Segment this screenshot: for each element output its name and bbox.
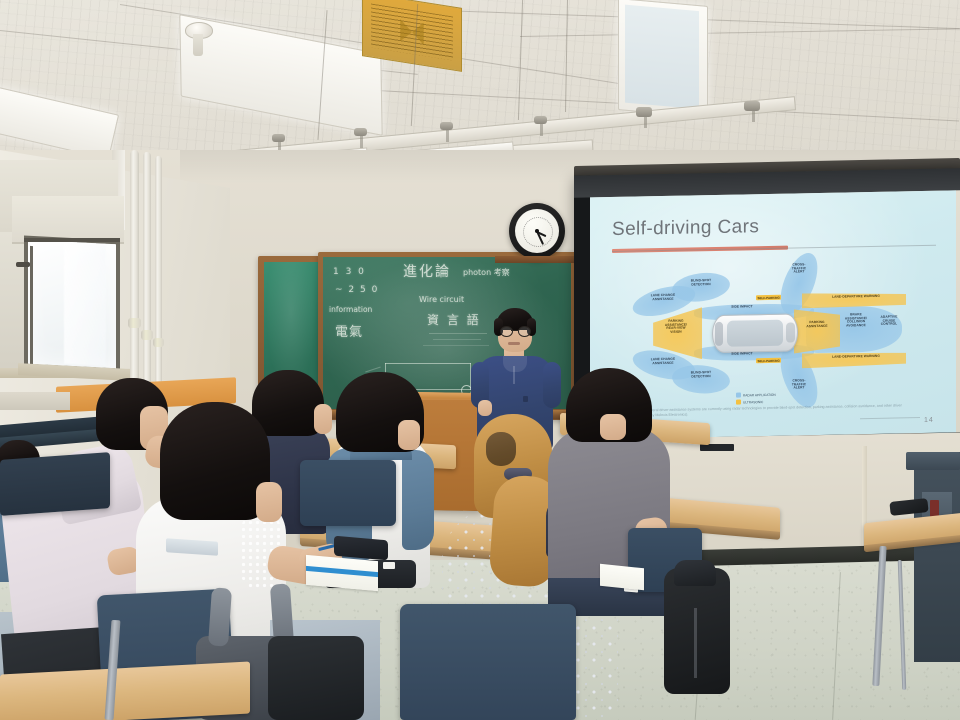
pipe-joint (141, 330, 153, 340)
student-white-neck (256, 482, 282, 522)
presenter-arm-right (543, 362, 561, 408)
legend-label-ultrasonic: ULTRASONIC (743, 400, 763, 404)
chalk-note-3: information (329, 305, 372, 314)
student-dark-top-neck (314, 404, 332, 434)
chair-center (400, 604, 576, 720)
ledge-wall (0, 392, 70, 410)
rail-hanger-head (636, 107, 652, 117)
chalk-note-8: 資 言 語 (427, 311, 481, 328)
car-hood (786, 322, 795, 342)
backpack-zipper (694, 608, 697, 678)
legend-label-radar: RADAR APPLICATION (743, 392, 776, 397)
chalk-note-2: ~ 2 5 0 (335, 285, 379, 295)
pipe-joint (153, 338, 164, 347)
clock-numerals (523, 217, 553, 247)
chair-farleft (0, 452, 110, 516)
presenter-glasses-left-lens (500, 326, 513, 337)
backpack-floor (664, 568, 730, 694)
sensor-coverage-diagram: LANE CHANGE ASSISTANCE BLIND-SPOT DETECT… (634, 257, 912, 402)
polo-pocket (523, 396, 528, 402)
label-lane-change-assistance-rear-left: LANE CHANGE ASSISTANCE (634, 357, 692, 365)
classroom-photo: 1 3 0 ~ 2 5 0 information 電氣 進化論 photon … (0, 0, 960, 720)
window-blind-left (0, 232, 26, 376)
wall-pipe (155, 156, 162, 402)
lobe-blind-spot-rear (671, 363, 732, 396)
clock-face (515, 209, 559, 253)
bag-under-desk (268, 636, 364, 720)
rail-hanger-head (354, 128, 367, 136)
car-top-view (712, 313, 798, 353)
legend-item-ultrasonic: ULTRASONIC (736, 399, 763, 405)
slide-page-number: 14 (924, 417, 934, 424)
av-cabinet (914, 452, 960, 662)
window-mullion (30, 246, 33, 366)
chalk-scribble (433, 339, 481, 340)
window-frame-2 (24, 235, 120, 372)
label-parking-assistance-rear-view: PARKING ASSISTANCE/ REAR-VIEW VISION (654, 319, 698, 335)
wall-pipe (143, 152, 151, 402)
paper-sheet (600, 564, 644, 591)
label-blind-spot-detection-front: BLIND-SPOT DETECTION (674, 279, 728, 287)
student-gray-neck (600, 414, 626, 440)
label-cross-traffic-alert-rear-right: CROSS- TRAFFIC ALERT (782, 379, 816, 391)
chalk-note-4: 電氣 (335, 321, 363, 340)
label-self-parking-top: SELF-PARKING (756, 295, 781, 300)
wall-clock (509, 203, 565, 259)
panel-diffuser (625, 5, 699, 109)
window-curtain (64, 244, 106, 366)
chair-midleft (300, 460, 396, 526)
chalk-note-5: 進化論 (403, 261, 451, 281)
rail-hanger-head (534, 116, 547, 124)
raglan-sleeve-right (402, 450, 434, 550)
presenter-hand-left (478, 400, 492, 416)
cone-parking-assistance-right (794, 309, 840, 354)
student-white-hair (160, 402, 270, 520)
legend-swatch-radar (736, 392, 741, 397)
chalk-note-7: Wire circuit (419, 295, 464, 304)
label-brake-assistance-collision-avoidance: BRAKE ASSISTANCE/ COLLISION AVOIDANCE (836, 313, 876, 328)
car-windshield (727, 320, 783, 347)
notebook-stripe (306, 566, 378, 577)
polo-placket (513, 366, 515, 384)
car-rear (715, 322, 723, 346)
av-cabinet-top (906, 452, 960, 470)
legend-swatch-ultrasonic (736, 399, 741, 404)
eraser (383, 562, 395, 569)
rail-hanger-head (440, 122, 453, 130)
presenter-glasses-bridge (511, 330, 518, 331)
label-lane-change-assistance-front-left: LANE CHANGE ASSISTANCE (634, 293, 692, 301)
polo-collar (503, 356, 527, 372)
rail-hanger-head (744, 101, 760, 111)
smoke-detector-stem (193, 34, 203, 56)
notebook (306, 555, 378, 591)
student-blue-raglan-neck (398, 420, 420, 450)
chalk-note-1: 1 3 0 (333, 267, 366, 277)
ceiling-panel-right (618, 0, 708, 118)
slide-title: Self-driving Cars (612, 216, 759, 241)
chalk-note-6: photon 考察 (463, 267, 510, 278)
chalk-scribble (423, 345, 489, 346)
label-self-parking-bottom: SELF-PARKING (756, 358, 781, 363)
legend-item-radar: RADAR APPLICATION (736, 392, 776, 398)
window-mullion-top (24, 238, 120, 242)
wall-pipe (130, 150, 139, 400)
backpack-strap-left (208, 587, 232, 646)
label-parking-assistance-right: PARKING ASSISTANCE (796, 321, 838, 329)
car-sketch-top (385, 363, 471, 364)
label-cross-traffic-alert-front-right: CROSS- TRAFFIC ALERT (782, 263, 816, 275)
window-latch (16, 262, 30, 267)
presenter-mouth (508, 342, 520, 345)
presenter-glasses-right-lens (518, 326, 531, 337)
wall-fixture (700, 444, 734, 451)
student-blonde-hair-part (486, 432, 516, 466)
label-adaptive-cruise-control: ADAPTIVE CRUISE CONTROL (872, 315, 906, 327)
label-blind-spot-detection-rear: BLIND-SPOT DETECTION (674, 371, 728, 379)
backpack-top-handle (674, 560, 716, 586)
pipe-joint (128, 318, 141, 328)
chalk-scribble (429, 333, 487, 334)
rail-hanger-head (272, 134, 285, 142)
clock-shelf (495, 256, 581, 263)
